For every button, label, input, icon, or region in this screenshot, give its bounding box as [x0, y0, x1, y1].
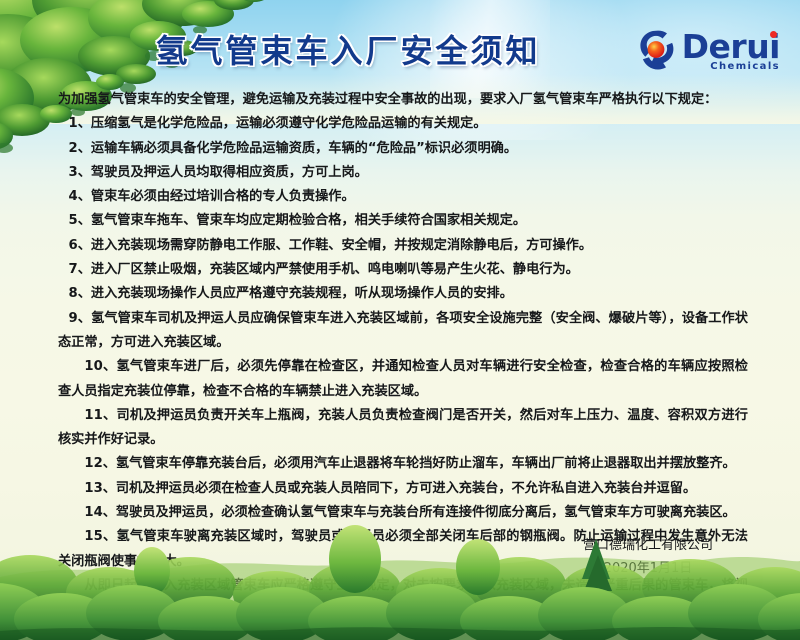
- brand-logo: Derui Chemicals: [634, 26, 780, 76]
- signature-block: 营口德瑞化工有限公司 2020年1月1日: [548, 534, 748, 580]
- intro-paragraph: 为加强氢气管束车的安全管理，避免运输及充装过程中安全事故的出现，要求入厂氢气管束…: [58, 88, 748, 112]
- rule-item-6: 6、进入充装现场需穿防静电工作服、工作鞋、安全帽，并按规定消除静电后，方可操作。: [58, 234, 748, 258]
- rule-item-4: 4、管束车必须由经过培训合格的专人负责操作。: [58, 185, 748, 209]
- brand-wordmark: Derui Chemicals: [682, 30, 780, 72]
- rule-item-9: 9、氢气管束车司机及押运人员应确保管束车进入充装区域前，各项安全设施完整（安全阀…: [58, 307, 748, 356]
- rule-item-1: 1、压缩氢气是化学危险品，运输必须遵守化学危险品运输的有关规定。: [58, 112, 748, 136]
- rule-item-8: 8、进入充装现场操作人员应严格遵守充装规程，听从现场操作人员的安排。: [58, 282, 748, 306]
- brand-red-dot-icon: [770, 31, 777, 38]
- rule-item-11: 11、司机及押运员负责开关车上瓶阀，充装人员负责检查阀门是否开关，然后对车上压力…: [58, 404, 748, 453]
- rule-item-14: 14、驾驶员及押运员，必须检查确认氢气管束车与充装台所有连接件彻底分离后，氢气管…: [58, 501, 748, 525]
- poster-header: 氢气管束车入厂安全须知: [0, 0, 800, 92]
- closing-paragraph: 从即日起，进入充装区域管束车应严格遵守上述规定，对未按要求进入充装区域，未造成严…: [58, 574, 748, 623]
- rule-item-2: 2、运输车辆必须具备化学危险品运输资质，车辆的“危险品”标识必须明确。: [58, 137, 748, 161]
- rule-item-10: 10、氢气管束车进厂后，必须先停靠在检查区，并通知检查人员对车辆进行安全检查，检…: [58, 355, 748, 404]
- rule-item-3: 3、驾驶员及押运人员均取得相应资质，方可上岗。: [58, 161, 748, 185]
- page-title: 氢气管束车入厂安全须知: [128, 26, 568, 72]
- signature-date: 2020年1月1日: [548, 557, 748, 580]
- rule-item-7: 7、进入厂区禁止吸烟，充装区域内严禁使用手机、鸣电喇叭等易产生火花、静电行为。: [58, 258, 748, 282]
- signature-company: 营口德瑞化工有限公司: [548, 534, 748, 557]
- safety-notice-poster: 氢气管束车入厂安全须知: [0, 0, 800, 640]
- rule-item-13: 13、司机及押运员必须在检查人员或充装人员陪同下，方可进入充装台，不允许私自进入…: [58, 477, 748, 501]
- derui-swirl-icon: [634, 29, 678, 73]
- brand-name: Derui: [682, 30, 780, 64]
- rule-item-5: 5、氢气管束车拖车、管束车均应定期检验合格，相关手续符合国家相关规定。: [58, 209, 748, 233]
- rule-item-12: 12、氢气管束车停靠充装台后，必须用汽车止退器将车轮挡好防止溜车，车辆出厂前将止…: [58, 452, 748, 476]
